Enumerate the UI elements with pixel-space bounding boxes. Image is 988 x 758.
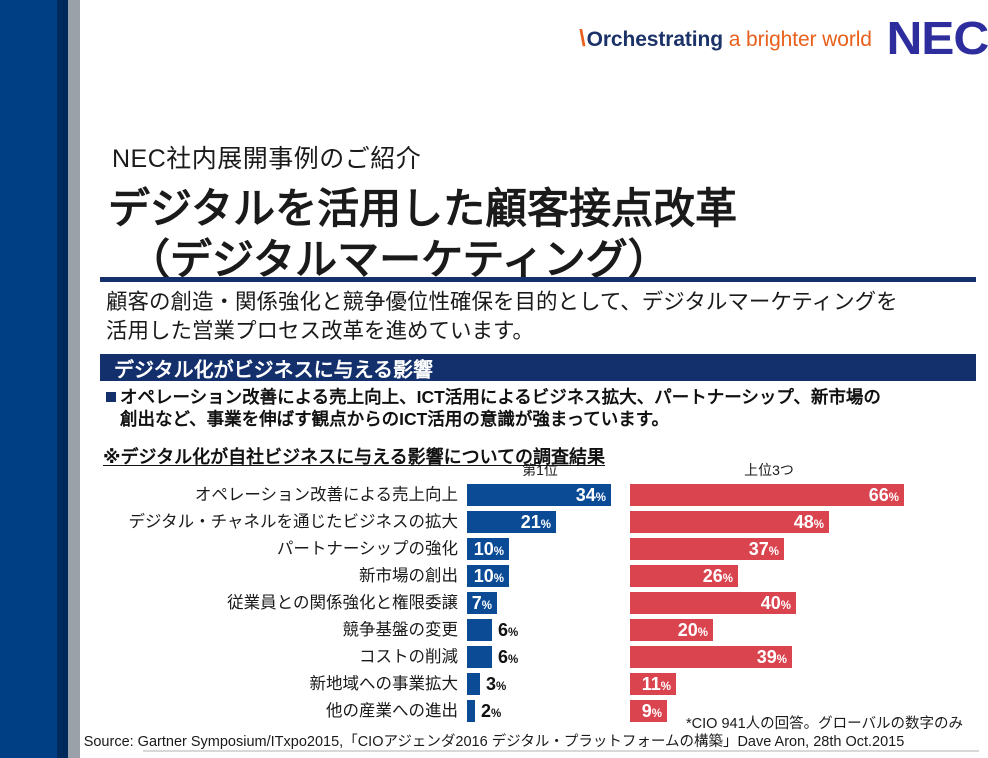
chart-category-label: 新地域への事業拡大: [0, 673, 458, 695]
chart-category-label: 新市場の創出: [0, 565, 458, 587]
chart-row: 新市場の創出10%26%: [0, 565, 988, 592]
page-eyebrow: NEC社内展開事例のご紹介: [112, 139, 421, 175]
chart-row: デジタル・チャネルを通じたビジネスの拡大21%48%: [0, 511, 988, 538]
nec-logo: NEC: [886, 15, 988, 61]
chart-bar-rank1: 21%: [467, 511, 556, 533]
key-points: オペレーション改善による売上向上、ICT活用によるビジネス拡大、パートナーシップ…: [106, 386, 986, 431]
section-header-label: デジタル化がビジネスに与える影響: [114, 353, 433, 382]
chart-bar-top3: 40%: [630, 592, 796, 614]
chart-row: 従業員との関係強化と権限委譲7%40%: [0, 592, 988, 619]
chart-value-rank1: 21%: [521, 513, 556, 532]
chart-row: パートナーシップの強化10%37%: [0, 538, 988, 565]
chart-value-rank1: 34%: [576, 486, 611, 505]
chart-value-rank1: 10%: [474, 567, 509, 586]
chart-legend-top3: 上位3つ: [630, 460, 908, 480]
chart-bar-top3: 20%: [630, 619, 713, 641]
chart-value-top3: 9%: [642, 702, 667, 721]
square-bullet-icon: [106, 392, 116, 402]
chart-value-rank1: 10%: [474, 540, 509, 559]
chart-category-label: 競争基盤の変更: [0, 619, 458, 641]
chart-category-label: 他の産業への進出: [0, 700, 458, 722]
chart-value-rank1: 7%: [472, 594, 497, 613]
chart-bar-rank1: 34%: [467, 484, 611, 506]
chart-category-label: コストの削減: [0, 646, 458, 668]
title-divider: [100, 277, 976, 282]
chart-bar-rank1: 6%: [467, 646, 492, 668]
chart-bar-rank1: 10%: [467, 565, 509, 587]
tagline-slash-glyph: \: [579, 25, 585, 51]
section-header-bar: デジタル化がビジネスに与える影響: [100, 354, 976, 381]
chart-value-rank1: 6%: [492, 621, 518, 640]
chart-bar-top3: 11%: [630, 673, 676, 695]
chart-value-rank1: 6%: [492, 648, 518, 667]
slide-root: \Orchestrating a brighter world NEC NEC社…: [0, 0, 988, 758]
chart-bar-top3: 26%: [630, 565, 738, 587]
chart-value-top3: 40%: [761, 594, 796, 613]
chart-category-label: デジタル・チャネルを通じたビジネスの拡大: [0, 511, 458, 533]
chart-bar-top3: 39%: [630, 646, 792, 668]
tagline-light-text: a brighter world: [723, 28, 872, 51]
chart-value-top3: 26%: [703, 567, 738, 586]
chart-bar-top3: 66%: [630, 484, 904, 506]
chart-value-top3: 20%: [678, 621, 713, 640]
chart-value-top3: 37%: [749, 540, 784, 559]
chart-row: 競争基盤の変更6%20%: [0, 619, 988, 646]
chart-category-label: オペレーション改善による売上向上: [0, 484, 458, 506]
chart-bar-rank1: 2%: [467, 700, 475, 722]
footnote-source: Source: Gartner Symposium/ITxpo2015,「CIO…: [0, 730, 988, 751]
chart-value-top3: 66%: [869, 486, 904, 505]
bullet-line-2: 創出など、事業を伸ばす観点からのICT活用の意識が強まっています。: [106, 408, 986, 430]
chart-bar-rank1: 3%: [467, 673, 480, 695]
chart-value-rank1: 3%: [480, 675, 506, 694]
lead-line-1: 顧客の創造・関係強化と競争優位性確保を目的として、デジタルマーケティングを: [106, 288, 978, 317]
brand-header: \Orchestrating a brighter world NEC: [440, 14, 988, 62]
chart-row: オペレーション改善による売上向上34%66%: [0, 484, 988, 511]
chart-value-top3: 11%: [642, 675, 676, 694]
brand-tagline: \Orchestrating a brighter world: [579, 27, 872, 50]
lead-paragraph: 顧客の創造・関係強化と競争優位性確保を目的として、デジタルマーケティングを 活用…: [106, 288, 978, 346]
chart-bar-rank1: 6%: [467, 619, 492, 641]
chart-bar-rank1: 10%: [467, 538, 509, 560]
chart-row: 新地域への事業拡大3%11%: [0, 673, 988, 700]
chart-value-rank1: 2%: [475, 702, 501, 721]
chart-category-label: 従業員との関係強化と権限委譲: [0, 592, 458, 614]
chart-value-top3: 48%: [794, 513, 829, 532]
chart-bar-top3: 37%: [630, 538, 784, 560]
chart-bar-rank1: 7%: [467, 592, 497, 614]
lead-line-2: 活用した営業プロセス改革を進めています。: [106, 317, 978, 346]
chart-value-top3: 39%: [757, 648, 792, 667]
chart-bar-top3: 48%: [630, 511, 829, 533]
chart-legend-rank1: 第1位: [467, 460, 613, 480]
chart-bar-top3: 9%: [630, 700, 667, 722]
survey-bar-chart: 第1位 上位3つ オペレーション改善による売上向上34%66%デジタル・チャネル…: [0, 460, 988, 720]
chart-row: コストの削減6%39%: [0, 646, 988, 673]
bullet-line-1-text: オペレーション改善による売上向上、ICT活用によるビジネス拡大、パートナーシップ…: [120, 387, 881, 407]
tagline-bold-text: Orchestrating: [587, 28, 723, 51]
bullet-line-1: オペレーション改善による売上向上、ICT活用によるビジネス拡大、パートナーシップ…: [106, 386, 986, 408]
chart-category-label: パートナーシップの強化: [0, 538, 458, 560]
